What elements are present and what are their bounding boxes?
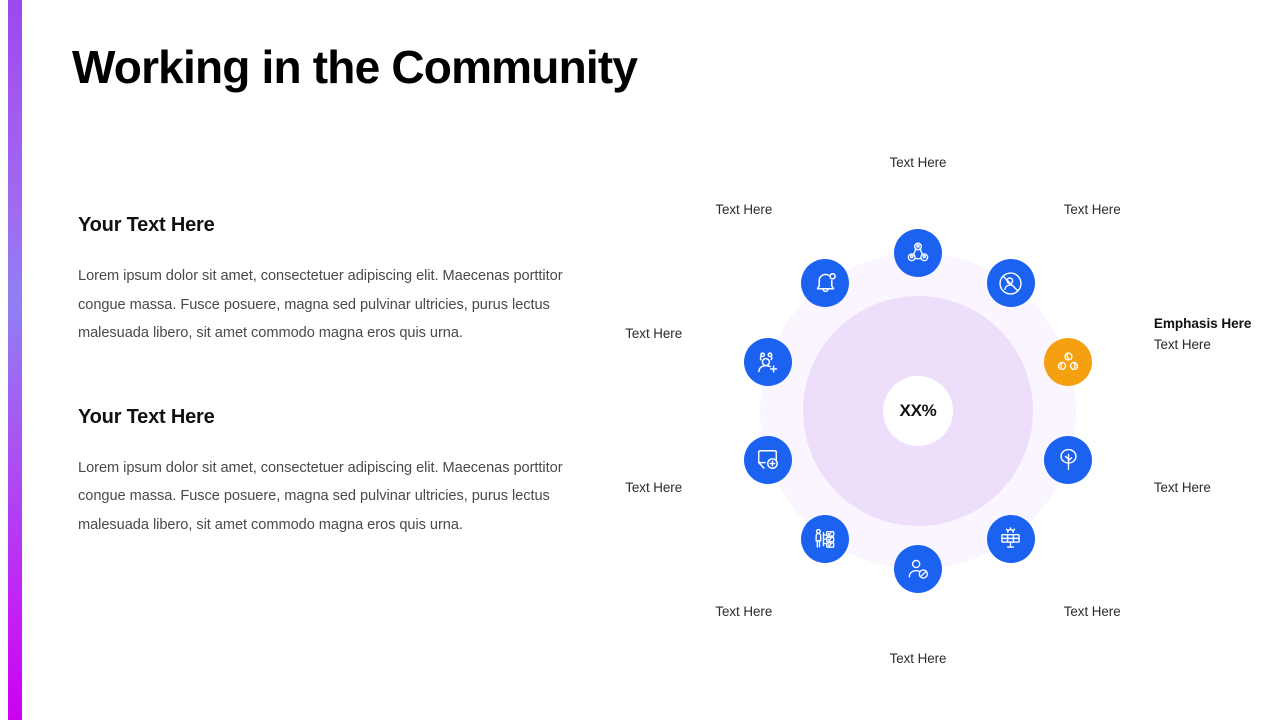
diagram-node-label-9: Text Here xyxy=(625,325,682,343)
diagram-node-label-7: Text Here xyxy=(715,603,772,621)
diagram-node-label-text-5: Text Here xyxy=(1064,604,1121,619)
diagram-node-label-5: Text Here xyxy=(1064,603,1121,621)
diagram-node-label-1: Text Here xyxy=(890,154,947,172)
diagram-node-label-10: Text Here xyxy=(715,201,772,219)
circular-diagram: XX% Text Here Text Here Emphasis HereTex… xyxy=(628,170,1268,650)
diagram-node-label-text-9: Text Here xyxy=(625,326,682,341)
accent-strip xyxy=(8,0,22,720)
person-blocked-icon xyxy=(905,556,931,582)
document-add-icon xyxy=(754,446,781,473)
person-checklist-icon xyxy=(812,526,838,552)
diagram-node-2[interactable] xyxy=(987,259,1035,307)
diagram-node-3[interactable] xyxy=(1044,338,1092,386)
text-block: Your Text Here Lorem ipsum dolor sit ame… xyxy=(78,214,598,348)
bell-notification-icon xyxy=(812,270,839,297)
text-block-heading: Your Text Here xyxy=(78,214,598,237)
diagram-node-9[interactable] xyxy=(744,338,792,386)
diagram-node-label-3: Emphasis HereText Here xyxy=(1154,315,1252,354)
diagram-node-emphasis-3: Emphasis Here xyxy=(1154,315,1252,333)
diagram-node-label-text-8: Text Here xyxy=(625,480,682,495)
no-person-icon xyxy=(997,270,1024,297)
diagram-node-label-2: Text Here xyxy=(1064,201,1121,219)
diagram-node-label-8: Text Here xyxy=(625,479,682,497)
diagram-node-label-text-4: Text Here xyxy=(1154,480,1211,495)
diagram-node-label-4: Text Here xyxy=(1154,479,1211,497)
page-title: Working in the Community xyxy=(72,41,637,94)
diagram-node-label-text-7: Text Here xyxy=(715,604,772,619)
diagram-node-label-text-3: Text Here xyxy=(1154,337,1211,352)
center-value: XX% xyxy=(883,376,953,446)
tree-icon xyxy=(1055,446,1082,473)
text-column: Your Text Here Lorem ipsum dolor sit ame… xyxy=(78,214,598,540)
diagram-node-6[interactable] xyxy=(894,545,942,593)
diagram-node-4[interactable] xyxy=(1044,436,1092,484)
text-block-body: Lorem ipsum dolor sit amet, consectetuer… xyxy=(78,262,583,348)
people-group-icon xyxy=(905,240,931,266)
diagram-node-8[interactable] xyxy=(744,436,792,484)
add-person-icon xyxy=(754,349,781,376)
diagram-node-10[interactable] xyxy=(801,259,849,307)
text-block-heading: Your Text Here xyxy=(78,406,598,429)
diagram-node-label-text-2: Text Here xyxy=(1064,202,1121,217)
text-block-body: Lorem ipsum dolor sit amet, consectetuer… xyxy=(78,454,583,540)
text-block: Your Text Here Lorem ipsum dolor sit ame… xyxy=(78,406,598,540)
diagram-node-label-6: Text Here xyxy=(890,650,947,668)
diagram-node-label-text-6: Text Here xyxy=(890,651,947,666)
diagram-node-1[interactable] xyxy=(894,229,942,277)
diagram-node-5[interactable] xyxy=(987,515,1035,563)
leaves-recycle-icon xyxy=(1055,349,1081,375)
solar-panel-icon xyxy=(997,525,1024,552)
diagram-node-7[interactable] xyxy=(801,515,849,563)
diagram-node-label-text-1: Text Here xyxy=(890,155,947,170)
diagram-node-label-text-10: Text Here xyxy=(715,202,772,217)
